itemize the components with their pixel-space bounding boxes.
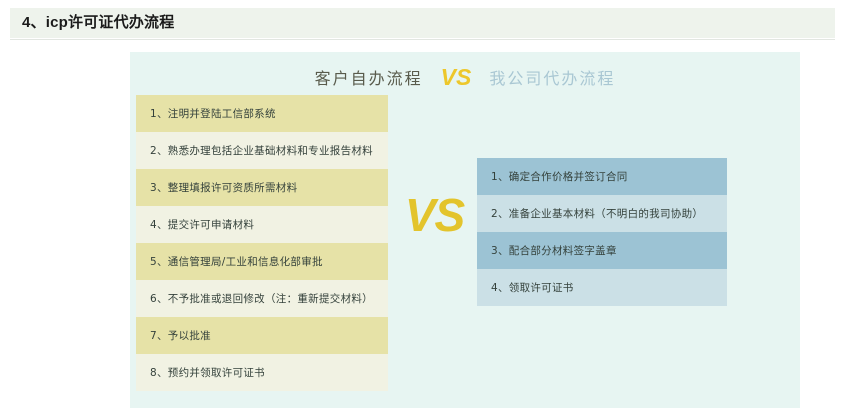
list-item: 2、准备企业基本材料（不明白的我司协助） <box>477 195 727 232</box>
customer-column-title: 客户自办流程 <box>315 65 423 89</box>
page-root: 4、icp许可证代办流程 客户自办流程 VS 我公司代办流程 1、注明并登陆工信… <box>0 0 843 418</box>
list-item: 2、熟悉办理包括企业基础材料和专业报告材料 <box>136 132 388 169</box>
list-item: 4、领取许可证书 <box>477 269 727 306</box>
title-vs-label: VS <box>441 66 472 89</box>
center-vs-label: VS <box>392 192 477 238</box>
list-item: 5、通信管理局/工业和信息化部审批 <box>136 243 388 280</box>
section-heading-bar: 4、icp许可证代办流程 <box>10 8 835 38</box>
customer-steps-column: 1、注明并登陆工信部系统 2、熟悉办理包括企业基础材料和专业报告材料 3、整理填… <box>136 95 388 391</box>
agency-steps-column: 1、确定合作价格并签订合同 2、准备企业基本材料（不明白的我司协助） 3、配合部… <box>477 158 727 306</box>
list-item: 3、整理填报许可资质所需材料 <box>136 169 388 206</box>
list-item: 1、注明并登陆工信部系统 <box>136 95 388 132</box>
agency-column-title: 我公司代办流程 <box>489 65 615 89</box>
list-item: 1、确定合作价格并签订合同 <box>477 158 727 195</box>
list-item: 3、配合部分材料签字盖章 <box>477 232 727 269</box>
list-item: 6、不予批准或退回修改（注：重新提交材料） <box>136 280 388 317</box>
list-item: 7、予以批准 <box>136 317 388 354</box>
panel-title-row: 客户自办流程 VS 我公司代办流程 <box>130 60 800 94</box>
list-item: 4、提交许可申请材料 <box>136 206 388 243</box>
list-item: 8、预约并领取许可证书 <box>136 354 388 391</box>
heading-divider <box>10 39 835 40</box>
comparison-panel: 客户自办流程 VS 我公司代办流程 1、注明并登陆工信部系统 2、熟悉办理包括企… <box>130 52 800 408</box>
page-title: 4、icp许可证代办流程 <box>10 8 174 38</box>
